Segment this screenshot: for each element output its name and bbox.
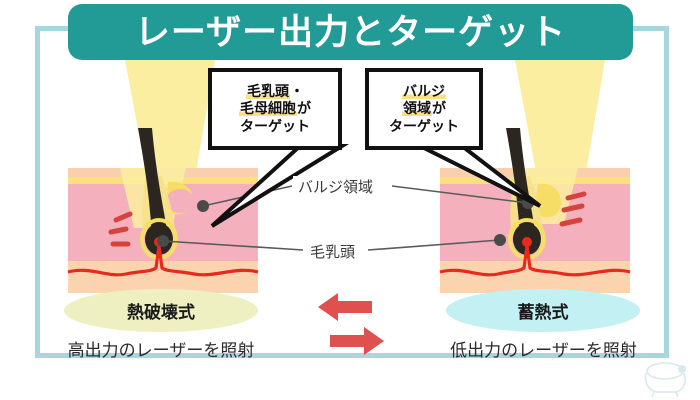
caption-left: 高出力のレーザーを照射 [64,336,258,361]
marker-bulge-left [197,200,209,212]
infographic-root: 毛乳頭・ 毛母細胞が ターゲット バルジ 領域が ターゲット バルジ領域 毛乳頭… [0,0,700,400]
label-bulge-region: バルジ領域 [293,176,378,197]
method-pill-left: 熱破壊式 [64,289,258,332]
callout-right-line-2: 領域が [402,100,446,117]
caption-right: 低出力のレーザーを照射 [441,336,646,361]
label-hair-papilla: 毛乳頭 [305,241,360,262]
callout-right-line-3: ターゲット [389,118,459,135]
marker-papilla-left [157,235,169,247]
callout-left-line-2: 毛母細胞が [239,100,311,117]
exchange-arrows [316,291,386,357]
callout-left-line-3: ターゲット [240,118,310,135]
callout-box-right: バルジ 領域が ターゲット [365,68,483,150]
method-label-right: 蓄熱式 [518,298,569,323]
callout-box-left: 毛乳頭・ 毛母細胞が ターゲット [208,68,342,150]
method-pill-right: 蓄熱式 [446,289,640,332]
title-banner: レーザー出力とターゲット [68,4,633,60]
arrow-right-icon [330,327,384,355]
method-label-left: 熱破壊式 [127,298,195,323]
arrow-left-icon [318,293,372,321]
page-title: レーザー出力とターゲット [135,15,566,50]
callout-left-line-1: 毛乳頭・ [246,83,304,100]
callout-right-line-1: バルジ [402,83,446,100]
marker-papilla-right [494,234,506,246]
site-watermark-icon [636,358,694,398]
